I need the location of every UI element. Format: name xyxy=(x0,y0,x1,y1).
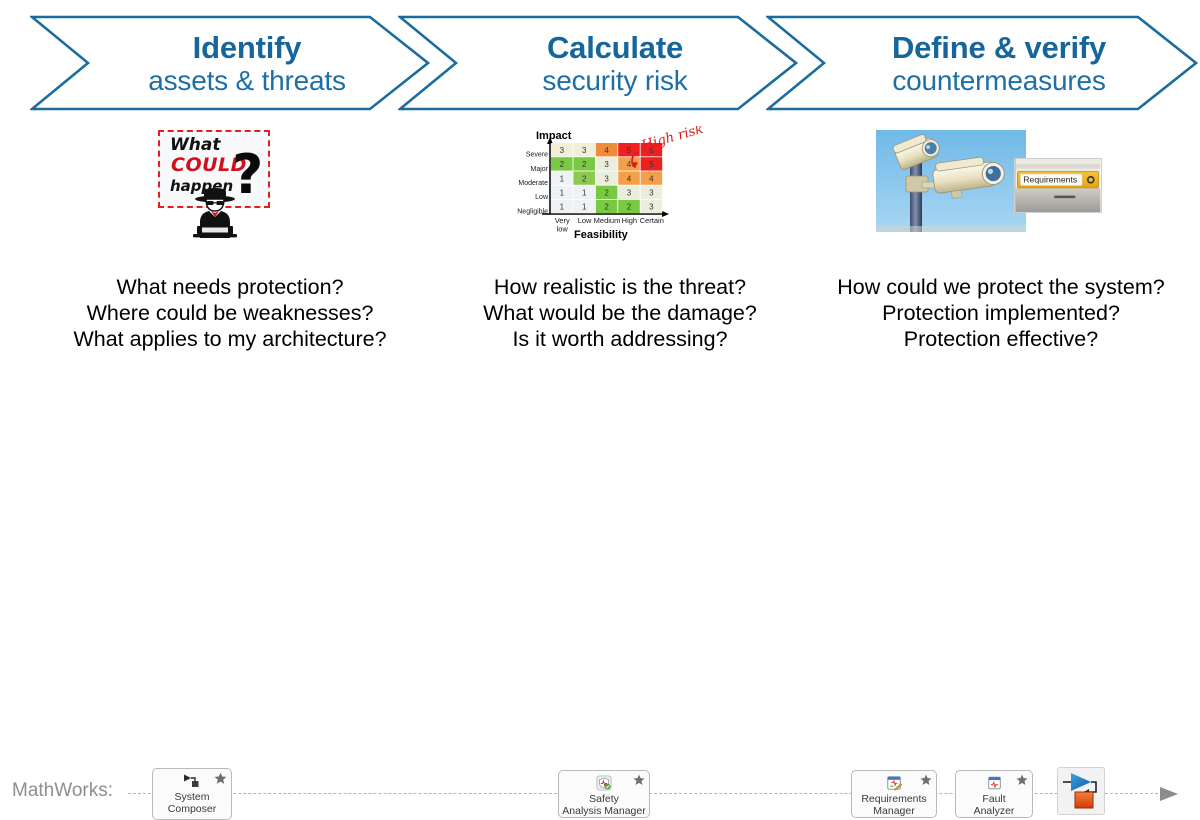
matrix-cell-value: 3 xyxy=(604,160,609,169)
matrix-column-label: High xyxy=(622,216,637,225)
product-label-line2: Analysis Manager xyxy=(562,805,645,817)
product-label-line2: Manager xyxy=(861,805,926,817)
question-text: What applies to my architecture? xyxy=(30,326,430,352)
simulink-icon xyxy=(1058,768,1104,814)
risk-matrix-chart: Impact 3345522345123441123311223 SevereM… xyxy=(498,126,730,244)
matrix-cell-value: 1 xyxy=(560,174,565,183)
stage-subtitle-3: countermeasures xyxy=(892,67,1106,95)
product-label: Fault Analyzer xyxy=(974,793,1015,817)
star-icon[interactable] xyxy=(1016,774,1028,786)
matrix-cell-value: 3 xyxy=(627,189,632,198)
process-stage-banner: Identify assets & threats Calculate secu… xyxy=(0,14,1200,112)
matrix-row-label: Moderate xyxy=(518,180,548,187)
product-card-requirements-manager[interactable]: Requirements Manager xyxy=(851,770,937,818)
high-risk-text: High risk xyxy=(639,126,706,154)
simulink-icon-tile[interactable] xyxy=(1057,767,1105,815)
matrix-cell-value: 5 xyxy=(627,146,632,155)
product-label-line2: Composer xyxy=(168,803,216,815)
matrix-cell-value: 1 xyxy=(582,189,587,198)
what-could-happen-graphic: What COULD happen ? xyxy=(158,130,282,238)
stage-chevron-calculate[interactable]: Calculate security risk xyxy=(398,14,798,112)
matrix-ylabel: Impact xyxy=(536,130,572,142)
product-label-line1: Requirements xyxy=(861,793,926,805)
product-card-system-composer[interactable]: System Composer xyxy=(152,768,232,820)
matrix-cell-value: 4 xyxy=(604,146,609,155)
matrix-column-label: Certain xyxy=(640,216,664,225)
matrix-cell-value: 4 xyxy=(649,174,654,183)
questions-identify: What needs protection? Where could be we… xyxy=(30,274,430,352)
matrix-cell-value: 2 xyxy=(582,174,587,183)
matrix-row-label: Major xyxy=(530,166,548,173)
matrix-row-label: Negligible xyxy=(517,208,548,215)
stage-title-3: Define & verify xyxy=(892,32,1106,63)
product-label: Safety Analysis Manager xyxy=(562,793,645,817)
product-card-fault-analyzer[interactable]: Fault Analyzer xyxy=(955,770,1033,818)
question-text: How realistic is the threat? xyxy=(430,274,810,300)
matrix-cell-value: 2 xyxy=(604,203,609,212)
product-label: Requirements Manager xyxy=(861,793,926,817)
matrix-cell-value: 4 xyxy=(627,174,632,183)
system-composer-icon xyxy=(182,773,202,789)
matrix-cell-value: 2 xyxy=(560,160,565,169)
matrix-cell-value: 2 xyxy=(604,189,609,198)
product-card-safety-analysis-manager[interactable]: Safety Analysis Manager xyxy=(558,770,650,818)
product-label-line1: System xyxy=(168,791,216,803)
matrix-cell-value: 3 xyxy=(560,146,565,155)
wch-line-what: What xyxy=(170,135,220,155)
stage-title-1: Identify xyxy=(148,32,346,63)
fault-analyzer-icon xyxy=(986,775,1003,791)
cameras-requirements-graphic: Requirements xyxy=(876,130,1102,232)
product-label-line1: Fault xyxy=(974,793,1015,805)
matrix-row-labels: SevereMajorModerateLowNegligible xyxy=(517,152,549,216)
stage-title-2: Calculate xyxy=(542,32,687,63)
star-icon[interactable] xyxy=(920,774,932,786)
matrix-cell-value: 3 xyxy=(604,174,609,183)
matrix-cell-value: 2 xyxy=(582,160,587,169)
matrix-xlabel: Feasibility xyxy=(574,229,629,241)
stage-chevron-define-verify[interactable]: Define & verify countermeasures xyxy=(766,14,1198,112)
requirements-manager-icon xyxy=(885,775,903,791)
safety-analysis-manager-icon xyxy=(595,775,613,791)
stage-subtitle-2: security risk xyxy=(542,67,687,95)
risk-matrix-svg: Impact 3345522345123441123311223 SevereM… xyxy=(498,126,730,244)
matrix-cells: 3345522345123441123311223 xyxy=(551,143,662,213)
product-label-line1: Safety xyxy=(562,793,645,805)
question-text: Is it worth addressing? xyxy=(430,326,810,352)
question-text: Protection effective? xyxy=(806,326,1196,352)
mathworks-label: MathWorks: xyxy=(12,780,113,802)
questions-calculate: How realistic is the threat? What would … xyxy=(430,274,810,352)
matrix-row-label: Severe xyxy=(526,152,548,159)
star-icon[interactable] xyxy=(214,772,227,785)
matrix-cell-value: 3 xyxy=(582,146,587,155)
matrix-cell-value: 2 xyxy=(627,203,632,212)
questions-define-verify: How could we protect the system? Protect… xyxy=(806,274,1196,352)
matrix-cell-value: 1 xyxy=(560,203,565,212)
star-icon[interactable] xyxy=(633,774,645,786)
matrix-cell-value: 5 xyxy=(649,160,654,169)
timeline-arrow-icon xyxy=(1158,786,1180,802)
matrix-column-label: Verylow xyxy=(555,216,570,234)
matrix-cell-value: 1 xyxy=(582,203,587,212)
matrix-cell-value: 1 xyxy=(560,189,565,198)
hacker-icon xyxy=(184,186,246,238)
security-cameras-photo xyxy=(876,130,1026,232)
requirements-sign-text: Requirements xyxy=(1023,175,1078,185)
question-text: Protection implemented? xyxy=(806,300,1196,326)
matrix-column-label: Low xyxy=(578,216,592,225)
product-label-line2: Analyzer xyxy=(974,805,1015,817)
matrix-row-label: Low xyxy=(535,194,549,201)
stage-subtitle-1: assets & threats xyxy=(148,67,346,95)
question-text: What would be the damage? xyxy=(430,300,810,326)
question-text: How could we protect the system? xyxy=(806,274,1196,300)
question-text: Where could be weaknesses? xyxy=(30,300,430,326)
matrix-column-label: Medium xyxy=(594,216,621,225)
requirements-sign-photo: Requirements xyxy=(1014,158,1102,213)
stage-chevron-identify[interactable]: Identify assets & threats xyxy=(30,14,430,112)
matrix-cell-value: 3 xyxy=(649,189,654,198)
question-text: What needs protection? xyxy=(30,274,430,300)
matrix-cell-value: 4 xyxy=(627,160,632,169)
matrix-cell-value: 3 xyxy=(649,203,654,212)
product-label: System Composer xyxy=(168,791,216,815)
mathworks-product-timeline: MathWorks: System Composer xyxy=(0,380,1200,455)
